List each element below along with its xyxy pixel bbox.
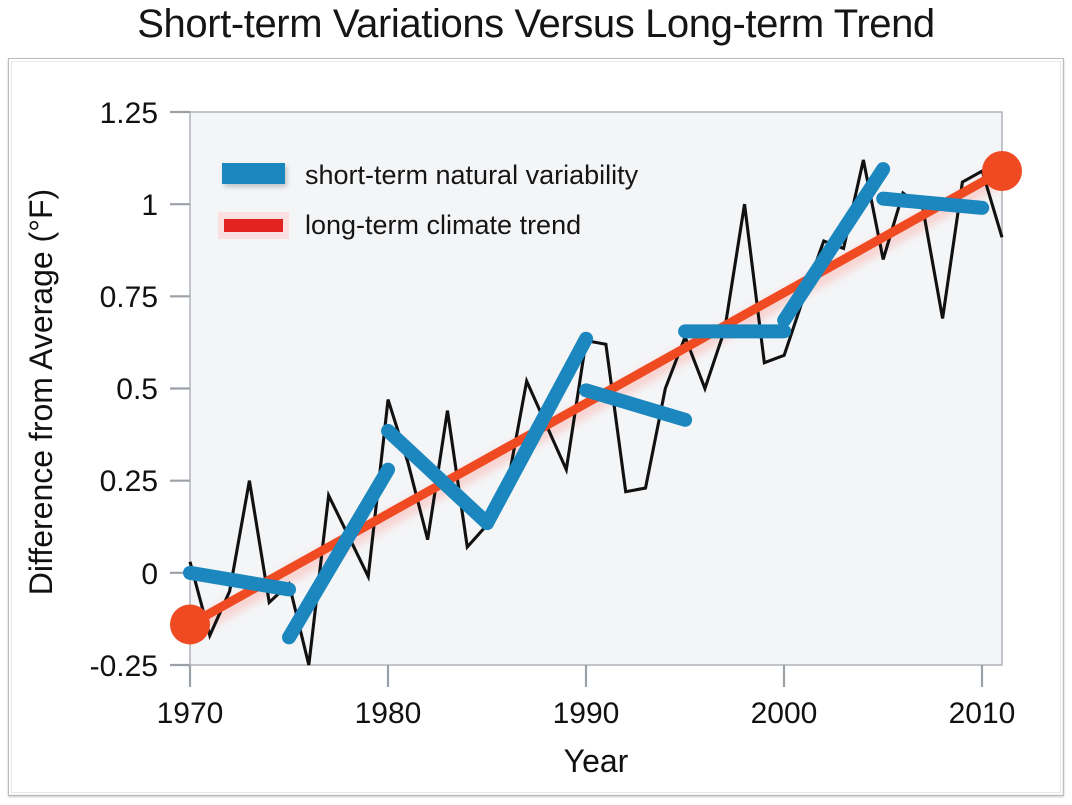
trend-endpoint-marker (982, 151, 1022, 191)
x-tick-label: 1980 (355, 697, 422, 730)
y-tick-label: 1.25 (100, 97, 158, 130)
figure-container: Short-term Variations Versus Long-term T… (0, 0, 1072, 805)
short-term-segment (883, 199, 982, 208)
x-axis-tick-labels: 1970 1980 1990 2000 2010 (157, 697, 1016, 730)
x-axis-title: Year (564, 743, 629, 779)
y-tick-label: 0.75 (100, 281, 158, 314)
y-tick-label: 0 (141, 558, 158, 591)
y-tick-label: -0.25 (90, 650, 158, 683)
legend-item-long-term[interactable]: long-term climate trend (218, 210, 581, 240)
legend-label-long-term: long-term climate trend (305, 210, 581, 240)
y-axis-tick-labels: 1.25 1 0.75 0.5 0.25 0 -0.25 (90, 97, 158, 683)
y-axis-title: Difference from Average (°F) (23, 189, 59, 595)
x-tick-label: 1970 (157, 697, 224, 730)
x-tick-label: 2000 (751, 697, 818, 730)
legend-swatch-short-term (222, 163, 285, 184)
chart-plot: 1.25 1 0.75 0.5 0.25 0 -0.25 1970 1980 1… (0, 0, 1072, 805)
trend-endpoint-marker (170, 604, 210, 644)
x-tick-label: 2010 (949, 697, 1016, 730)
y-tick-label: 0.5 (116, 373, 158, 406)
y-tick-label: 0.25 (100, 465, 158, 498)
legend-label-short-term: short-term natural variability (305, 160, 639, 190)
x-axis-ticks (190, 665, 982, 687)
x-tick-label: 1990 (553, 697, 620, 730)
y-tick-label: 1 (141, 189, 158, 222)
legend-swatch-long-term (224, 219, 283, 232)
y-axis-ticks (170, 112, 190, 665)
